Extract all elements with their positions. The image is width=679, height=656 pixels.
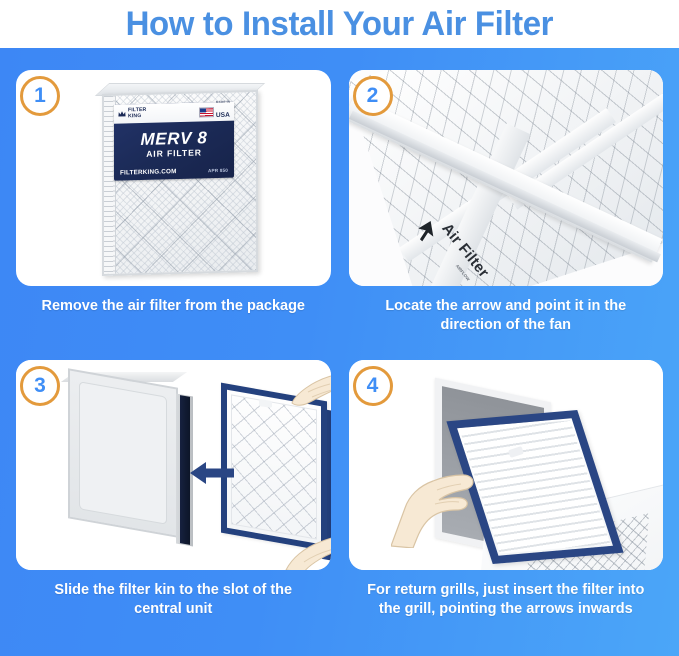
step-4-caption: For return grills, just insert the filte… (349, 581, 664, 619)
step-3-image-card: 3 (16, 360, 331, 570)
step-1-image-card: FILTER KING (16, 70, 331, 286)
step-1: FILTER KING (16, 70, 331, 354)
website-text: FILTERKING.COM (120, 168, 177, 176)
step-4: 4 For return grills, just insert the fil… (349, 360, 664, 644)
unit-front-recess (79, 381, 167, 525)
steps-grid: FILTER KING (0, 48, 679, 656)
central-air-handler-unit (68, 368, 178, 537)
hand-opening-grill (391, 462, 501, 548)
page-title: How to Install Your Air Filter (126, 5, 554, 44)
step-2-number-badge: 2 (353, 76, 393, 116)
step-2-image-card: Air Filter AIRFLOW 2 (349, 70, 664, 286)
sliding-filter-into-central-unit-illustration (16, 360, 331, 570)
usa-flag-icon (199, 107, 214, 117)
filter-king-logo: FILTER KING (118, 108, 146, 120)
filter-slot (180, 395, 190, 545)
brand-text: FILTER KING (128, 108, 146, 120)
step-2-caption: Locate the arrow and point it in the dir… (349, 297, 664, 335)
apr-text: APR 850 (208, 168, 228, 174)
insert-direction-arrow (190, 460, 234, 486)
filter-front-face: FILTER KING (102, 90, 258, 276)
made-in-text: MADE IN (216, 101, 230, 104)
step-1-number-badge: 1 (20, 76, 60, 116)
made-in-usa-mark: MADE IN USA (199, 101, 230, 123)
country-text: USA (216, 112, 230, 119)
step-4-number-badge: 4 (353, 366, 393, 406)
filter-mesh-pattern (231, 394, 317, 539)
step-2: Air Filter AIRFLOW 2 Locate the arrow an… (349, 70, 664, 354)
air-filter-corner-with-airflow-arrow-photo: Air Filter AIRFLOW (349, 70, 664, 286)
product-type: AIR FILTER (114, 147, 234, 160)
inserting-filter-into-return-grill-illustration (349, 360, 664, 570)
crown-icon (118, 109, 126, 118)
hand-holding-filter (268, 372, 331, 416)
product-label: FILTER KING (114, 102, 234, 181)
boxed-merv8-air-filter-photo: FILTER KING (16, 70, 331, 286)
step-1-caption: Remove the air filter from the package (16, 297, 331, 316)
usa-text-block: MADE IN USA (216, 101, 230, 122)
how-to-install-air-filter-infographic: How to Install Your Air Filter (0, 0, 679, 656)
brand-line-2: KING (128, 113, 146, 119)
hand-supporting-filter (282, 530, 331, 570)
label-footer: FILTERKING.COM APR 850 (114, 167, 234, 177)
steps-background: FILTER KING (0, 48, 679, 656)
label-header: FILTER KING (114, 102, 234, 124)
title-bar: How to Install Your Air Filter (0, 0, 679, 48)
step-3-caption: Slide the filter kin to the slot of the … (16, 581, 331, 619)
step-3-number-badge: 3 (20, 366, 60, 406)
step-4-image-card: 4 (349, 360, 664, 570)
step-3: 3 Slide the filter kin to the slot of th… (16, 360, 331, 644)
